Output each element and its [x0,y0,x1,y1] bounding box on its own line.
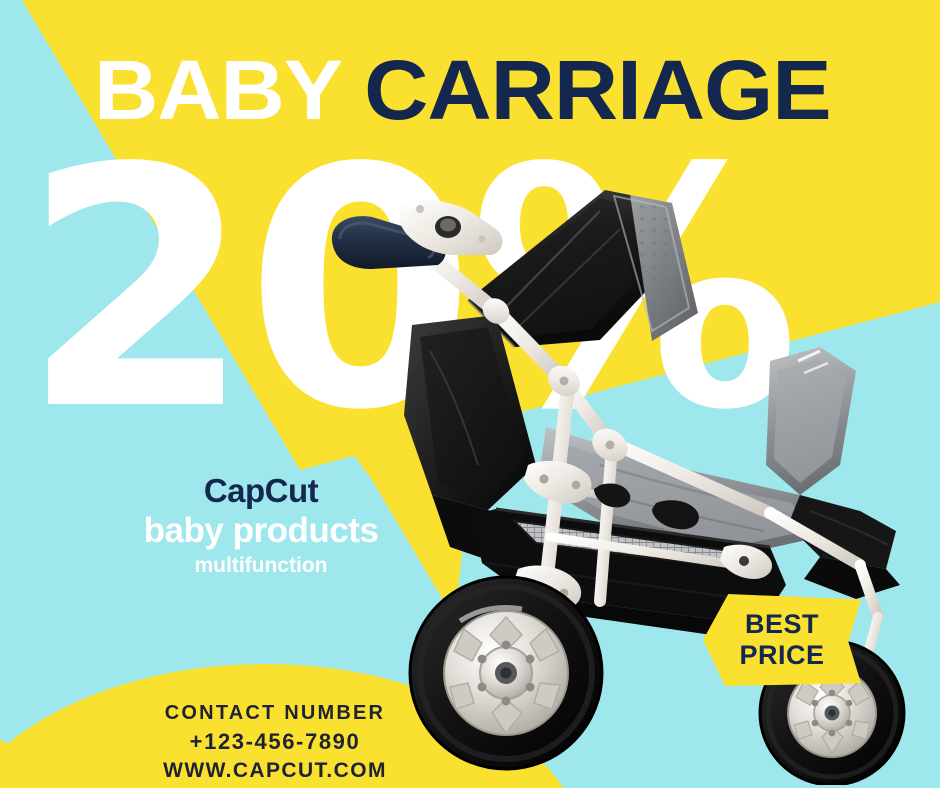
badge-line-1: BEST [745,609,819,640]
contact-phone: +123-456-7890 [60,727,490,756]
footrest [788,495,900,599]
contact-block: CONTACT NUMBER +123-456-7890 WWW.CAPCUT.… [60,700,490,785]
handlebar-grip [332,200,503,269]
badge-line-2: PRICE [739,640,824,671]
title-word-baby: BABY [94,43,340,137]
page-title: BABY CARRIAGE [94,48,831,132]
contact-label: CONTACT NUMBER [60,700,490,727]
baby-stroller-photo [300,165,920,785]
best-price-badge: BEST PRICE [703,594,861,686]
poster-canvas: 20% BABY CARRIAGE [0,0,940,788]
title-word-carriage: CARRIAGE [364,43,830,137]
contact-website: WWW.CAPCUT.COM [60,756,490,785]
